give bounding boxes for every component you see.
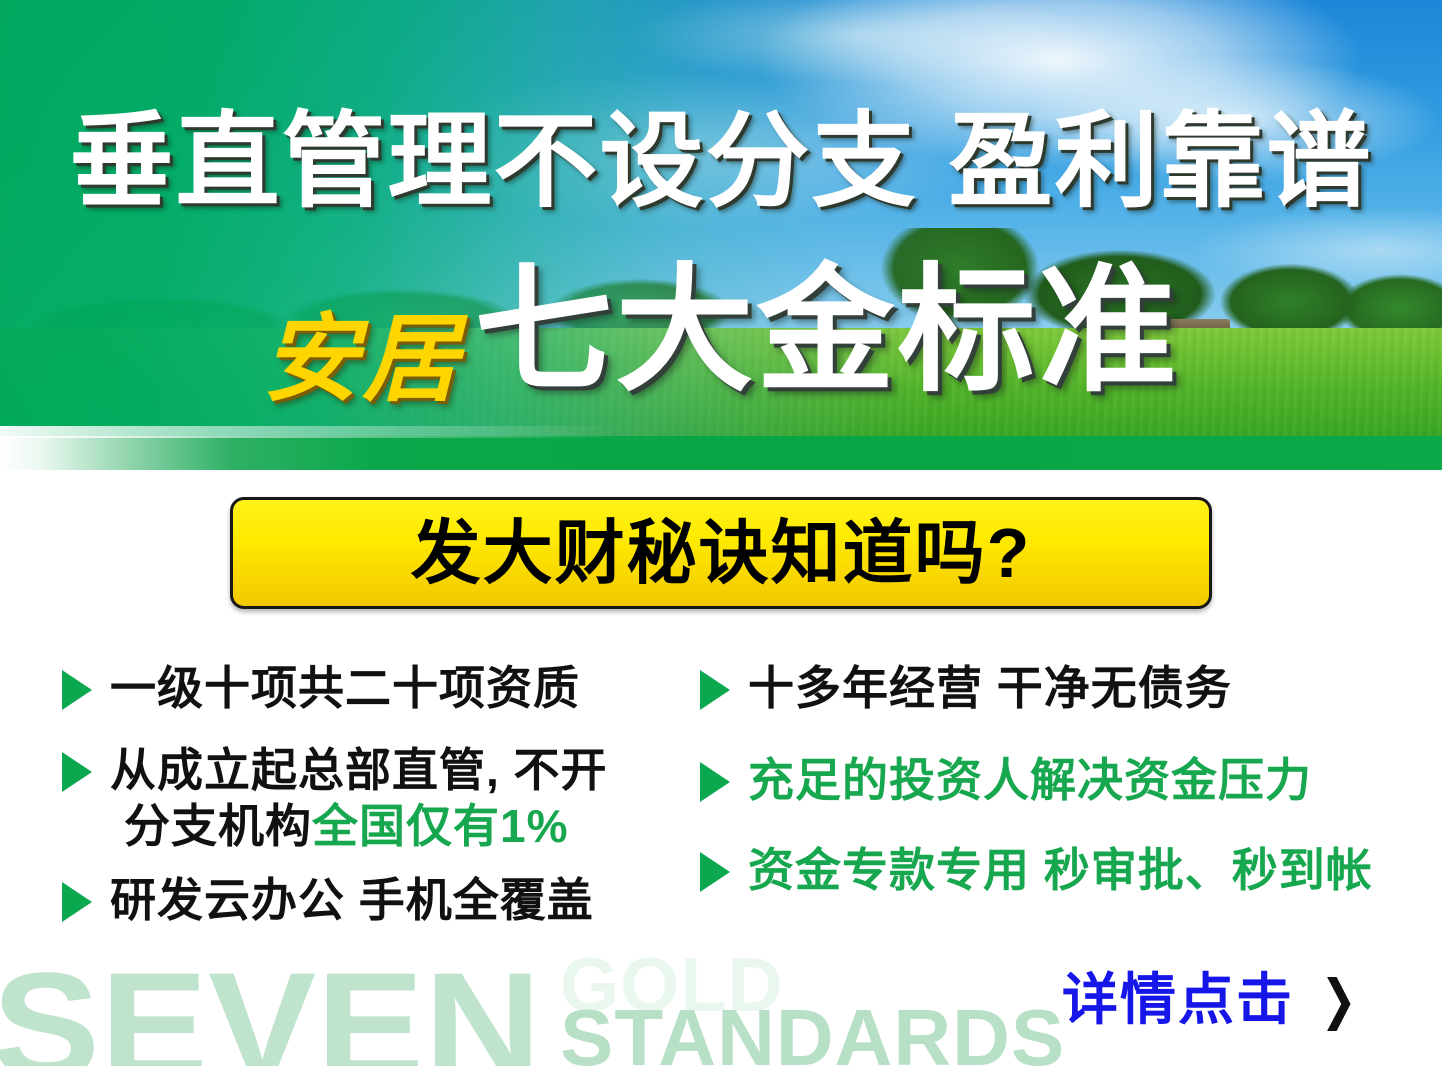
list-item: 一级十项共二十项资质 (62, 660, 702, 716)
chevron-right-icon: ❯ (1321, 973, 1357, 1027)
bullet-text: 充足的投资人解决资金压力 (748, 752, 1312, 808)
list-item: 充足的投资人解决资金压力 (700, 752, 1420, 808)
list-item: 资金专款专用 秒审批、秒到帐 (700, 842, 1420, 898)
bullet-text: 从成立起总部直管, 不开分支机构全国仅有1% (110, 742, 608, 854)
triangle-bullet-icon (62, 670, 92, 710)
bullet-text-highlight: 全国仅有1% (312, 800, 568, 852)
list-item: 研发云办公 手机全覆盖 (62, 872, 702, 928)
watermark-seven: SEVEN (0, 958, 541, 1066)
bullets-right-column: 十多年经营 干净无债务 充足的投资人解决资金压力 资金专款专用 秒审批、秒到帐 (700, 660, 1420, 924)
yellow-headline-banner: 发大财秘诀知道吗? (230, 497, 1212, 609)
hero-subline: 安居七大金标准 (0, 262, 1442, 408)
promo-banner: 垂直管理不设分支 盈利靠谱 安居七大金标准 发大财秘诀知道吗? 一级十项共二十项… (0, 0, 1442, 1066)
bullet-text-line2-plain: 分支机构 (124, 800, 312, 852)
triangle-bullet-icon (700, 670, 730, 710)
watermark-standards: STANDARDS (560, 1002, 1065, 1066)
yellow-banner-text: 发大财秘诀知道吗? (411, 518, 1032, 588)
bullet-text: 十多年经营 干净无债务 (748, 660, 1232, 716)
bullet-text: 研发云办公 手机全覆盖 (110, 872, 594, 928)
bullet-text: 一级十项共二十项资质 (110, 660, 580, 716)
cta-label: 详情点击 (1062, 972, 1294, 1028)
bullet-text-line2: 分支机构全国仅有1% (124, 798, 608, 854)
list-item: 从成立起总部直管, 不开分支机构全国仅有1% (62, 742, 702, 854)
list-item: 十多年经营 干净无债务 (700, 660, 1420, 716)
triangle-bullet-icon (700, 852, 730, 892)
hero-subtitle-text: 七大金标准 (474, 262, 1179, 400)
bullets-left-column: 一级十项共二十项资质 从成立起总部直管, 不开分支机构全国仅有1% 研发云办公 … (62, 660, 702, 954)
hero-brand-text: 安居 (262, 312, 462, 408)
hero-image: 垂直管理不设分支 盈利靠谱 安居七大金标准 (0, 0, 1442, 470)
details-cta-button[interactable]: 详情点击 ❯ (1062, 972, 1361, 1028)
bullet-text: 资金专款专用 秒审批、秒到帐 (748, 842, 1373, 898)
hero-headline: 垂直管理不设分支 盈利靠谱 (0, 108, 1442, 217)
triangle-bullet-icon (62, 752, 92, 792)
bullet-text-line1: 从成立起总部直管, 不开 (110, 744, 608, 796)
green-divider-band (0, 436, 1442, 470)
triangle-bullet-icon (62, 882, 92, 922)
triangle-bullet-icon (700, 762, 730, 802)
